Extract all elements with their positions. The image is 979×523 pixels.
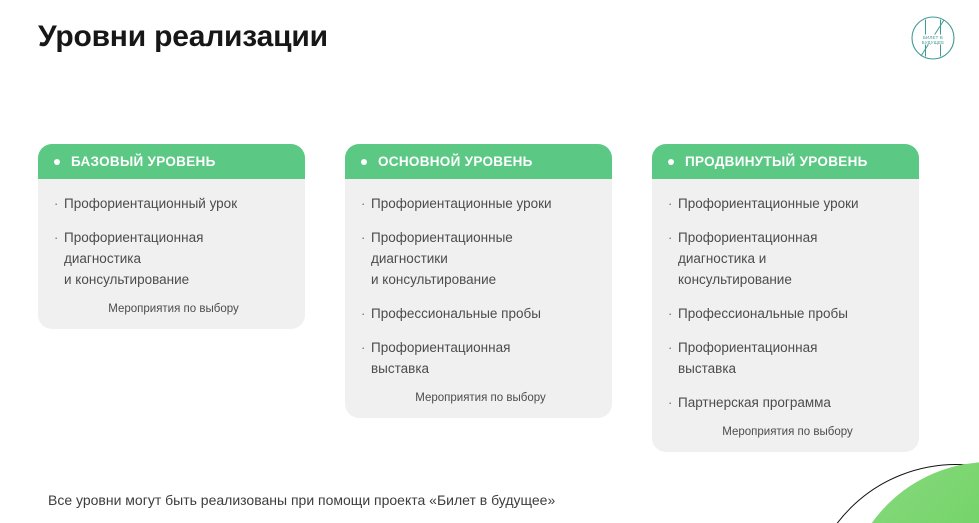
bilet-v-budushchee-logo: БИЛЕТ В БУДУЩЕЕ [905, 10, 961, 66]
list-item: · Профориентационные диагностики и консу… [361, 227, 594, 290]
list-item-label: Профориентационные уроки [678, 193, 859, 214]
list-item-label: Профориентационная выставка [678, 337, 817, 379]
bullet-icon: · [361, 303, 371, 324]
level-card-advanced: ПРОДВИНУТЫЙ УРОВЕНЬ · Профориентационные… [652, 144, 919, 452]
dot-icon [54, 159, 60, 165]
bullet-icon: · [668, 303, 678, 324]
dot-icon [668, 159, 674, 165]
list-item: · Профессиональные пробы [668, 303, 901, 324]
level-card-basic: БАЗОВЫЙ УРОВЕНЬ · Профориентационный уро… [38, 144, 305, 329]
list-item-label: Профессиональные пробы [678, 303, 848, 324]
list-item: · Профориентационные уроки [668, 193, 901, 214]
svg-text:БУДУЩЕЕ: БУДУЩЕЕ [922, 40, 945, 45]
levels-card-group: БАЗОВЫЙ УРОВЕНЬ · Профориентационный уро… [38, 144, 943, 452]
level-card-main-body: · Профориентационные уроки · Профориента… [345, 179, 612, 418]
bullet-icon: · [361, 193, 371, 214]
list-item-label: Партнерская программа [678, 392, 831, 413]
page-title: Уровни реализации [38, 20, 328, 54]
level-card-advanced-note: Мероприятия по выбору [668, 426, 901, 438]
list-item: · Профориентационная диагностика и консу… [54, 227, 287, 290]
list-item-label: Профориентационная диагностика и консуль… [678, 227, 817, 290]
level-card-main: ОСНОВНОЙ УРОВЕНЬ · Профориентационные ур… [345, 144, 612, 418]
list-item-label: Профессиональные пробы [371, 303, 541, 324]
list-item: · Профориентационный урок [54, 193, 287, 214]
level-card-main-header: ОСНОВНОЙ УРОВЕНЬ [345, 144, 612, 179]
list-item: · Профессиональные пробы [361, 303, 594, 324]
level-card-advanced-title: ПРОДВИНУТЫЙ УРОВЕНЬ [685, 154, 868, 169]
list-item-label: Профориентационные диагностики и консуль… [371, 227, 513, 290]
slide-canvas: Уровни реализации БИЛЕТ В БУДУЩЕЕ БАЗОВЫ… [0, 0, 979, 523]
list-item: · Партнерская программа [668, 392, 901, 413]
list-item: · Профориентационная диагностика и консу… [668, 227, 901, 290]
level-card-advanced-body: · Профориентационные уроки · Профориента… [652, 179, 919, 452]
bullet-icon: · [361, 337, 371, 358]
level-card-basic-body: · Профориентационный урок · Профориентац… [38, 179, 305, 329]
level-card-basic-note: Мероприятия по выбору [54, 303, 287, 315]
list-item: · Профориентационные уроки [361, 193, 594, 214]
bullet-icon: · [54, 227, 64, 248]
bullet-icon: · [668, 337, 678, 358]
level-card-basic-title: БАЗОВЫЙ УРОВЕНЬ [71, 154, 216, 169]
list-item-label: Профориентационная выставка [371, 337, 510, 379]
list-item: · Профориентационная выставка [361, 337, 594, 379]
list-item-label: Профориентационные уроки [371, 193, 552, 214]
bullet-icon: · [668, 193, 678, 214]
list-item-label: Профориентационный урок [64, 193, 237, 214]
level-card-main-note: Мероприятия по выбору [361, 392, 594, 404]
footer-note: Все уровни могут быть реализованы при по… [48, 492, 555, 508]
list-item-label: Профориентационная диагностика и консуль… [64, 227, 203, 290]
bullet-icon: · [668, 392, 678, 413]
bullet-icon: · [361, 227, 371, 248]
bullet-icon: · [668, 227, 678, 248]
level-card-advanced-header: ПРОДВИНУТЫЙ УРОВЕНЬ [652, 144, 919, 179]
level-card-main-title: ОСНОВНОЙ УРОВЕНЬ [378, 154, 533, 169]
dot-icon [361, 159, 367, 165]
list-item: · Профориентационная выставка [668, 337, 901, 379]
bullet-icon: · [54, 193, 64, 214]
level-card-basic-header: БАЗОВЫЙ УРОВЕНЬ [38, 144, 305, 179]
